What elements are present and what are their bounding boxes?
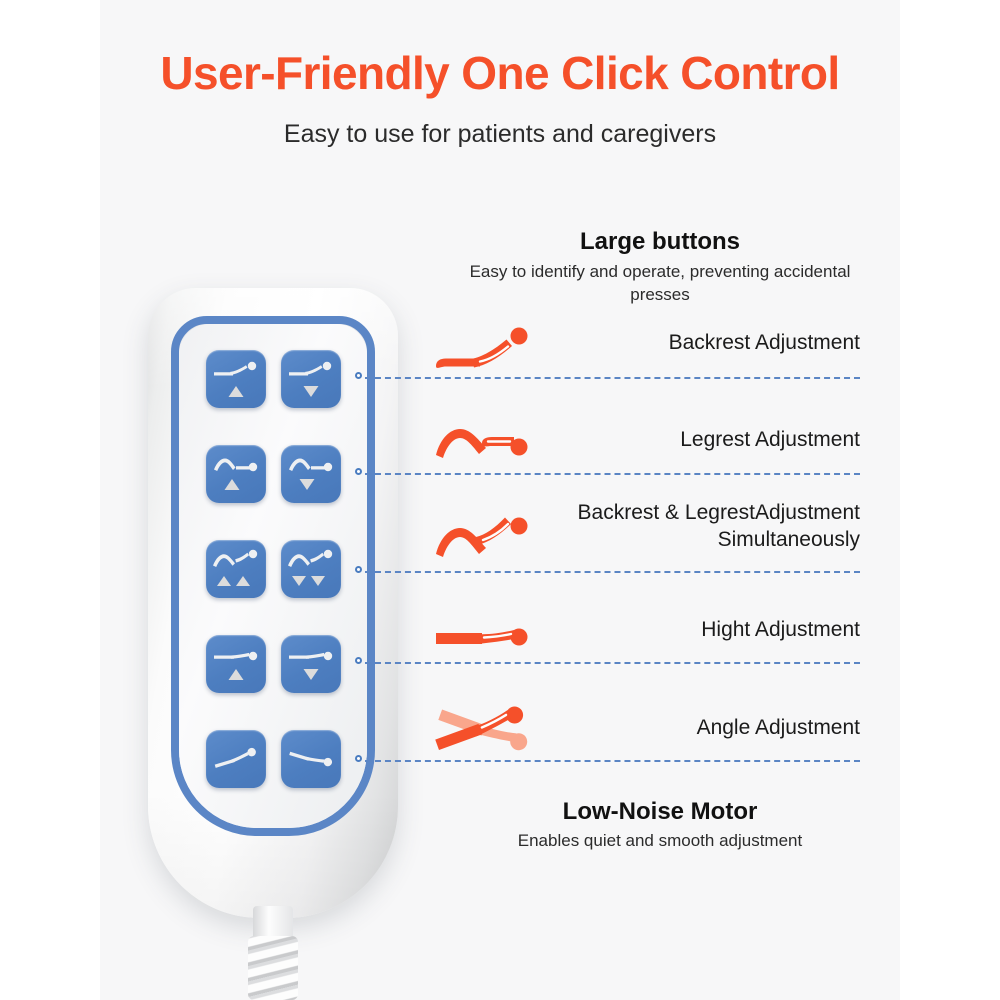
connector-dot [355,755,362,762]
backrest-up-button[interactable] [206,350,266,408]
feature-row-backrest-legrest: Backrest & LegrestAdjustment Simultaneou… [365,571,860,572]
backrest-legrest-up-button[interactable] [206,540,266,598]
connector-dot [355,566,362,573]
tilt-left-button[interactable] [206,730,266,788]
bed-remote-control [148,288,398,918]
page-subtitle: Easy to use for patients and caregivers [0,120,1000,149]
backrest-down-button[interactable] [281,350,341,408]
connector-dot [355,657,362,664]
height-up-button[interactable] [206,635,266,693]
feature-row-height: Hight Adjustment [365,662,860,663]
legrest-up-button[interactable] [206,445,266,503]
flat-figure-height-icon [430,610,540,672]
legrest-down-button[interactable] [281,445,341,503]
feature-label: Angle Adjustment [545,715,860,742]
reclining-figure-backrest-icon [430,320,540,382]
feature-label: Hight Adjustment [545,617,860,644]
connector-dot [355,372,362,379]
remote-cable-strain-relief [248,936,298,1000]
feature-label: Backrest Adjustment [545,330,860,357]
connector-dashed-line [365,571,860,573]
page-title: User-Friendly One Click Control [0,48,1000,99]
connector-dot [355,468,362,475]
feature-row-legrest: Legrest Adjustment [365,473,860,474]
large-buttons-heading: Large buttons [460,228,860,256]
feature-row-angle: Angle Adjustment [365,760,860,761]
large-buttons-description: Easy to identify and operate, preventing… [440,261,880,307]
feature-label: Legrest Adjustment [545,427,860,454]
low-noise-motor-heading: Low-Noise Motor [460,798,860,826]
feature-label: Backrest & LegrestAdjustment Simultaneou… [545,500,860,554]
low-noise-motor-description: Enables quiet and smooth adjustment [440,831,880,851]
feature-row-backrest: Backrest Adjustment [365,377,860,378]
infographic-page: User-Friendly One Click Control Easy to … [0,0,1000,1000]
backrest-legrest-down-button[interactable] [281,540,341,598]
reclining-figure-both-icon [430,509,540,571]
reclining-figure-legrest-icon [430,415,540,477]
tilted-figure-angle-icon [430,698,540,760]
height-down-button[interactable] [281,635,341,693]
tilt-right-button[interactable] [281,730,341,788]
